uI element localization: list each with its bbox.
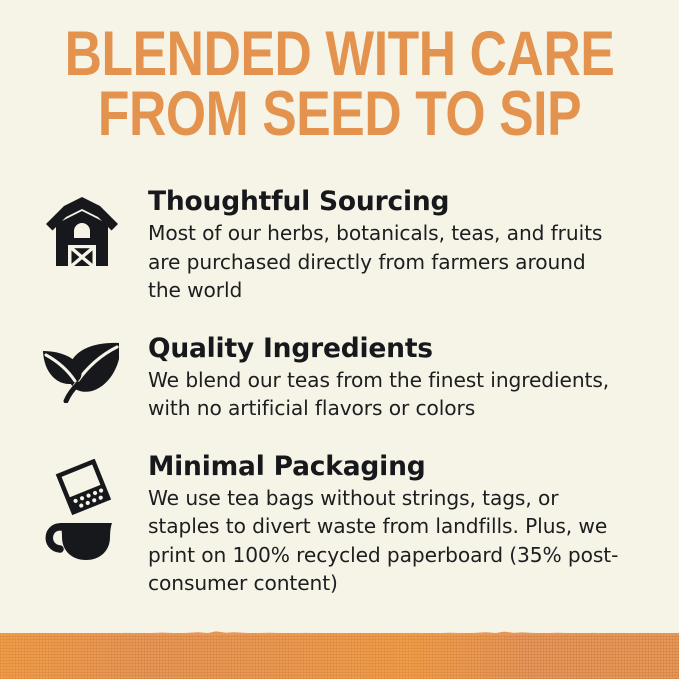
headline-line-2: FROM SEED TO SIP	[61, 84, 618, 144]
band-texture-overlay	[0, 633, 679, 679]
poster-root: BLENDED WITH CARE FROM SEED TO SIP	[0, 0, 679, 679]
page-title: BLENDED WITH CARE FROM SEED TO SIP	[61, 24, 618, 144]
feature-description: Most of our herbs, botanicals, teas, and…	[148, 219, 618, 305]
feature-text-block: Quality Ingredients We blend our teas fr…	[134, 333, 679, 423]
feature-title: Thoughtful Sourcing	[148, 186, 619, 217]
headline-line-1: BLENDED WITH CARE	[61, 24, 618, 84]
feature-item-thoughtful-sourcing: Thoughtful Sourcing Most of our herbs, b…	[0, 186, 679, 305]
leaf-icon	[30, 333, 134, 403]
torn-edge-decoration	[0, 628, 679, 635]
feature-text-block: Minimal Packaging We use tea bags withou…	[134, 451, 679, 598]
footer-orange-band	[0, 633, 679, 679]
feature-description: We use tea bags without strings, tags, o…	[148, 484, 619, 598]
feature-title: Minimal Packaging	[148, 451, 619, 482]
teabag-mug-icon	[30, 451, 134, 563]
feature-list: Thoughtful Sourcing Most of our herbs, b…	[0, 186, 679, 598]
feature-text-block: Thoughtful Sourcing Most of our herbs, b…	[134, 186, 679, 305]
feature-item-quality-ingredients: Quality Ingredients We blend our teas fr…	[0, 333, 679, 423]
feature-description: We blend our teas from the finest ingred…	[148, 366, 619, 423]
feature-item-minimal-packaging: Minimal Packaging We use tea bags withou…	[0, 451, 679, 598]
feature-title: Quality Ingredients	[148, 333, 619, 364]
barn-icon	[30, 186, 134, 270]
